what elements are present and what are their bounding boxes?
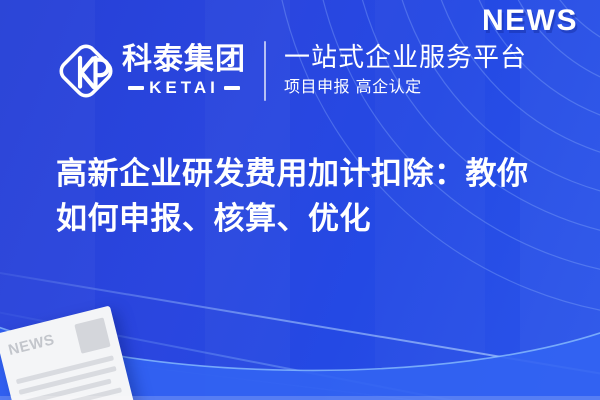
ketai-diamond-kp-logo-icon: [56, 40, 116, 102]
dash-right-decoration: [224, 86, 240, 90]
news-banner: NEWS 科泰集团 KETAI: [0, 0, 600, 400]
brand-wordmark: 科泰集团 KETAI: [122, 44, 246, 98]
banner-header: 科泰集团 KETAI 一站式企业服务平台 项目申报 高企认定: [56, 40, 527, 102]
brand-name-en-row: KETAI: [122, 78, 246, 98]
brand-name-en: KETAI: [149, 78, 219, 98]
news-wordmark: NEWS: [482, 4, 578, 38]
headline: 高新企业研发费用加计扣除：教你 如何申报、核算、优化: [56, 152, 566, 243]
tagline-sub: 项目申报 高企认定: [284, 77, 527, 98]
image-placeholder-block-icon: [74, 317, 110, 353]
brand-tagline: 一站式企业服务平台 项目申报 高企认定: [284, 44, 527, 98]
newspaper-illustration: NEWS: [0, 306, 139, 400]
header-divider: [264, 41, 266, 101]
newspaper-title: NEWS: [7, 332, 56, 358]
tagline-main: 一站式企业服务平台: [284, 44, 527, 73]
headline-line-2: 如何申报、核算、优化: [56, 197, 566, 242]
dash-left-decoration: [128, 86, 144, 90]
brand-name-cn: 科泰集团: [122, 44, 246, 75]
brand-logo[interactable]: 科泰集团 KETAI: [56, 40, 246, 102]
headline-line-1: 高新企业研发费用加计扣除：教你: [56, 152, 566, 197]
bottom-edge-line: [0, 396, 600, 400]
